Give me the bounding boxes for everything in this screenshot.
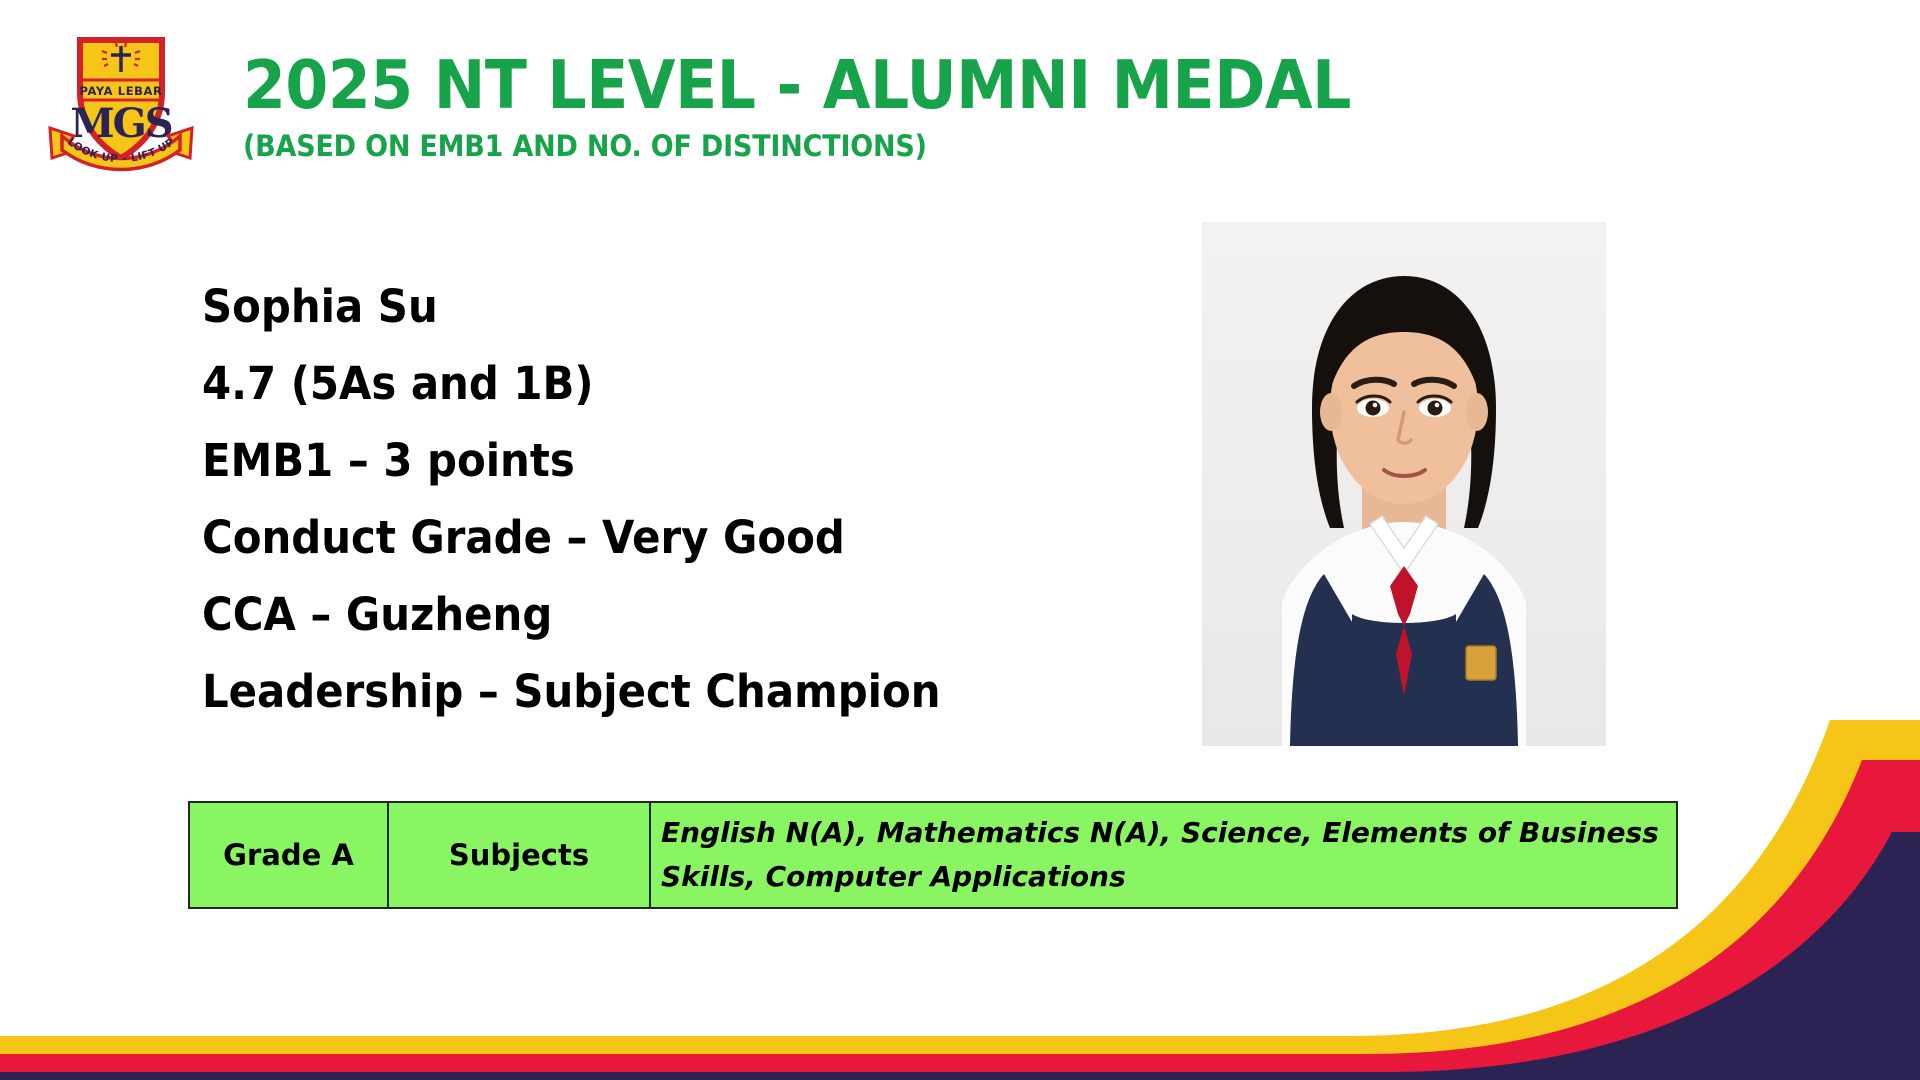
cell-subjects: English N(A), Mathematics N(A), Science,… xyxy=(650,802,1677,908)
student-photo xyxy=(1202,222,1606,746)
student-cca: CCA – Guzheng xyxy=(202,576,1132,653)
student-conduct: Conduct Grade – Very Good xyxy=(202,499,1132,576)
student-score: 4.7 (5As and 1B) xyxy=(202,345,1132,422)
table-body: Grade A Subjects English N(A), Mathemati… xyxy=(189,802,1677,908)
logo-school-name: PAYA LEBAR xyxy=(79,84,162,98)
cell-label: Subjects xyxy=(388,802,650,908)
school-logo: PAYA LEBAR MGS LOOK UP – LIFT UP xyxy=(38,24,204,174)
student-details-list: Sophia Su 4.7 (5As and 1B) EMB1 – 3 poin… xyxy=(202,268,1202,730)
student-name: Sophia Su xyxy=(202,268,1132,345)
portrait-illustration xyxy=(1202,222,1606,746)
logo-monogram: MGS xyxy=(70,100,171,147)
school-crest-icon: PAYA LEBAR MGS LOOK UP – LIFT UP xyxy=(38,24,204,174)
page-subtitle: (BASED ON EMB1 AND NO. OF DISTINCTIONS) xyxy=(243,128,1592,164)
student-emb1: EMB1 – 3 points xyxy=(202,422,1132,499)
title-block: 2025 NT LEVEL - ALUMNI MEDAL (BASED ON E… xyxy=(243,48,1693,164)
student-leadership: Leadership – Subject Champion xyxy=(202,653,1132,730)
page-title: 2025 NT LEVEL - ALUMNI MEDAL xyxy=(243,48,1577,122)
presentation-slide: PAYA LEBAR MGS LOOK UP – LIFT UP 2025 NT… xyxy=(0,0,1920,1080)
cell-grade: Grade A xyxy=(189,802,388,908)
table-row: Grade A Subjects English N(A), Mathemati… xyxy=(189,802,1677,908)
subjects-table: Grade A Subjects English N(A), Mathemati… xyxy=(188,801,1678,909)
